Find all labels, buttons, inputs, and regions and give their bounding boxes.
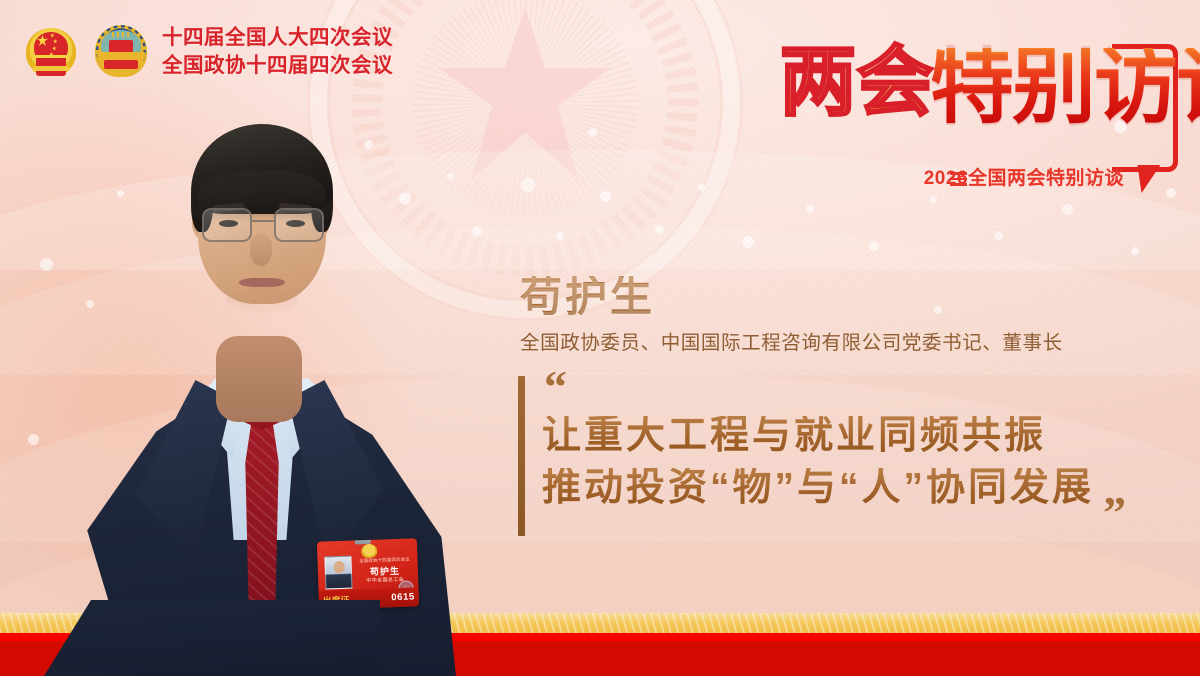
logo-word-liang: 两 — [780, 48, 855, 118]
bokeh-dot — [472, 226, 482, 236]
bokeh-dot — [1166, 188, 1176, 198]
quote-line-2: 推动投资“物”与“人”协同发展 — [542, 468, 1094, 507]
bokeh-dot — [1062, 204, 1073, 215]
delegate-badge: 全国政协十四届四次会议 苟护生 中华全国总工会 出席证 0615 — [317, 538, 419, 609]
cppcc-emblem-icon — [92, 22, 150, 80]
quote-open-mark: “ — [544, 364, 567, 410]
badge-photo — [324, 556, 352, 590]
meeting-header: 十四届全国人大四次会议 全国政协十四届四次会议 — [22, 22, 393, 80]
bokeh-dot — [588, 128, 597, 137]
guest-name: 苟护生 — [520, 276, 1180, 318]
logo-word-tebiefangtan: 特别访谈 — [930, 48, 1200, 125]
quote-block: “ 让重大工程与就业同频共振 推动投资“物”与“人”协同发展 ” — [518, 372, 1178, 540]
programme-logo-title: 两 会 特别访谈 — [780, 48, 1200, 125]
quote-close-mark: ” — [1103, 490, 1126, 536]
bokeh-dot — [1131, 247, 1139, 255]
meeting-name-npc: 十四届全国人大四次会议 — [162, 25, 393, 50]
guest-portrait: 全国政协十四届四次会议 苟护生 中华全国总工会 出席证 0615 — [50, 92, 470, 676]
bokeh-dot — [869, 241, 879, 251]
programme-logo: 两 会 特别访谈 2026全国两会特别访谈 — [758, 44, 1178, 184]
meeting-names: 十四届全国人大四次会议 全国政协十四届四次会议 — [162, 25, 393, 78]
bokeh-dot — [742, 236, 754, 248]
programme-logo-subtitle: 2026全国两会特别访谈 — [924, 163, 1124, 190]
logo-word-hui: 会 — [857, 48, 932, 118]
badge-number-text: 0615 — [391, 591, 415, 603]
quote-line-1: 让重大工程与就业同频共振 — [542, 416, 1046, 455]
bokeh-dot — [655, 225, 664, 234]
bokeh-dot — [28, 434, 39, 445]
interview-poster: 十四届全国人大四次会议 全国政协十四届四次会议 两 会 特别访谈 2026全国两… — [0, 0, 1200, 676]
suit-overlap-bottom — [44, 600, 380, 676]
badge-emblem-icon — [361, 544, 377, 559]
national-emblem-icon — [22, 22, 80, 80]
bokeh-dot — [930, 196, 937, 203]
bokeh-dot — [521, 178, 535, 192]
quote-accent-bar — [518, 376, 525, 536]
guest-info-block: 苟护生 全国政协委员、中国国际工程咨询有限公司党委书记、董事长 — [520, 276, 1180, 356]
bokeh-dot — [556, 232, 564, 240]
bokeh-dot — [806, 205, 814, 213]
bokeh-dot — [600, 191, 611, 202]
guest-title: 全国政协委员、中国国际工程咨询有限公司党委书记、董事长 — [520, 330, 1180, 356]
bokeh-dot — [698, 184, 705, 191]
bokeh-dot — [994, 231, 1003, 240]
meeting-name-cppcc: 全国政协十四届四次会议 — [162, 53, 393, 78]
